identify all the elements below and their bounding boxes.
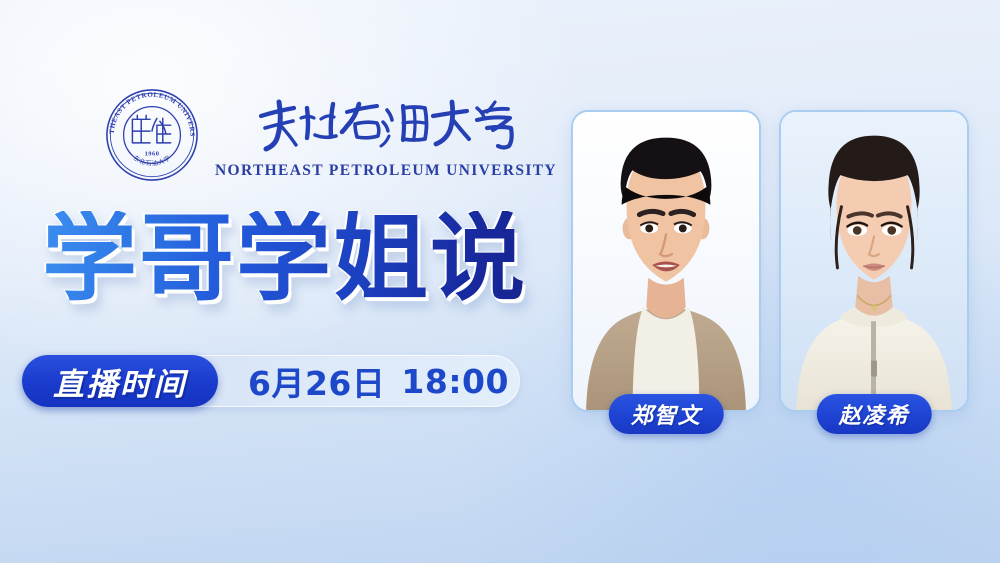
guest-photo-male	[573, 112, 759, 410]
guest-card-1[interactable]: 郑智文	[571, 110, 761, 412]
guest-name-pill-2: 赵凌希	[817, 394, 932, 434]
guest-photo-female	[781, 112, 967, 410]
university-name-cn	[255, 94, 517, 161]
svg-text:NORTHEAST PETROLEUM UNIVERSITY: NORTHEAST PETROLEUM UNIVERSITY	[103, 86, 196, 137]
guest-card-2[interactable]: 赵凌希	[779, 110, 969, 412]
live-time-badge-label: 直播时间	[53, 359, 187, 404]
schedule-bar: 直播时间 6月26日 18:00	[22, 355, 509, 407]
schedule-date: 6月26日	[248, 357, 385, 405]
guest-name-2: 赵凌希	[839, 398, 910, 430]
page-title: 学哥学姐说	[42, 211, 527, 308]
svg-text:1960: 1960	[145, 151, 160, 158]
live-time-badge: 直播时间	[22, 355, 218, 407]
guest-name-pill-1: 郑智文	[609, 394, 724, 434]
university-name-en: NORTHEAST PETROLEUM UNIVERSITY	[215, 162, 557, 180]
brand-text-block: NORTHEAST PETROLEUM UNIVERSITY	[215, 90, 557, 180]
schedule-time: 18:00	[401, 362, 509, 401]
brand-lockup: NORTHEAST PETROLEUM UNIVERSITY 东北石油大学 19…	[103, 86, 557, 184]
university-seal-emblem: NORTHEAST PETROLEUM UNIVERSITY 东北石油大学 19…	[103, 86, 201, 184]
schedule-datetime: 6月26日 18:00	[218, 355, 509, 407]
guest-card-list: 郑智文	[571, 110, 969, 412]
guest-name-1: 郑智文	[631, 398, 702, 430]
